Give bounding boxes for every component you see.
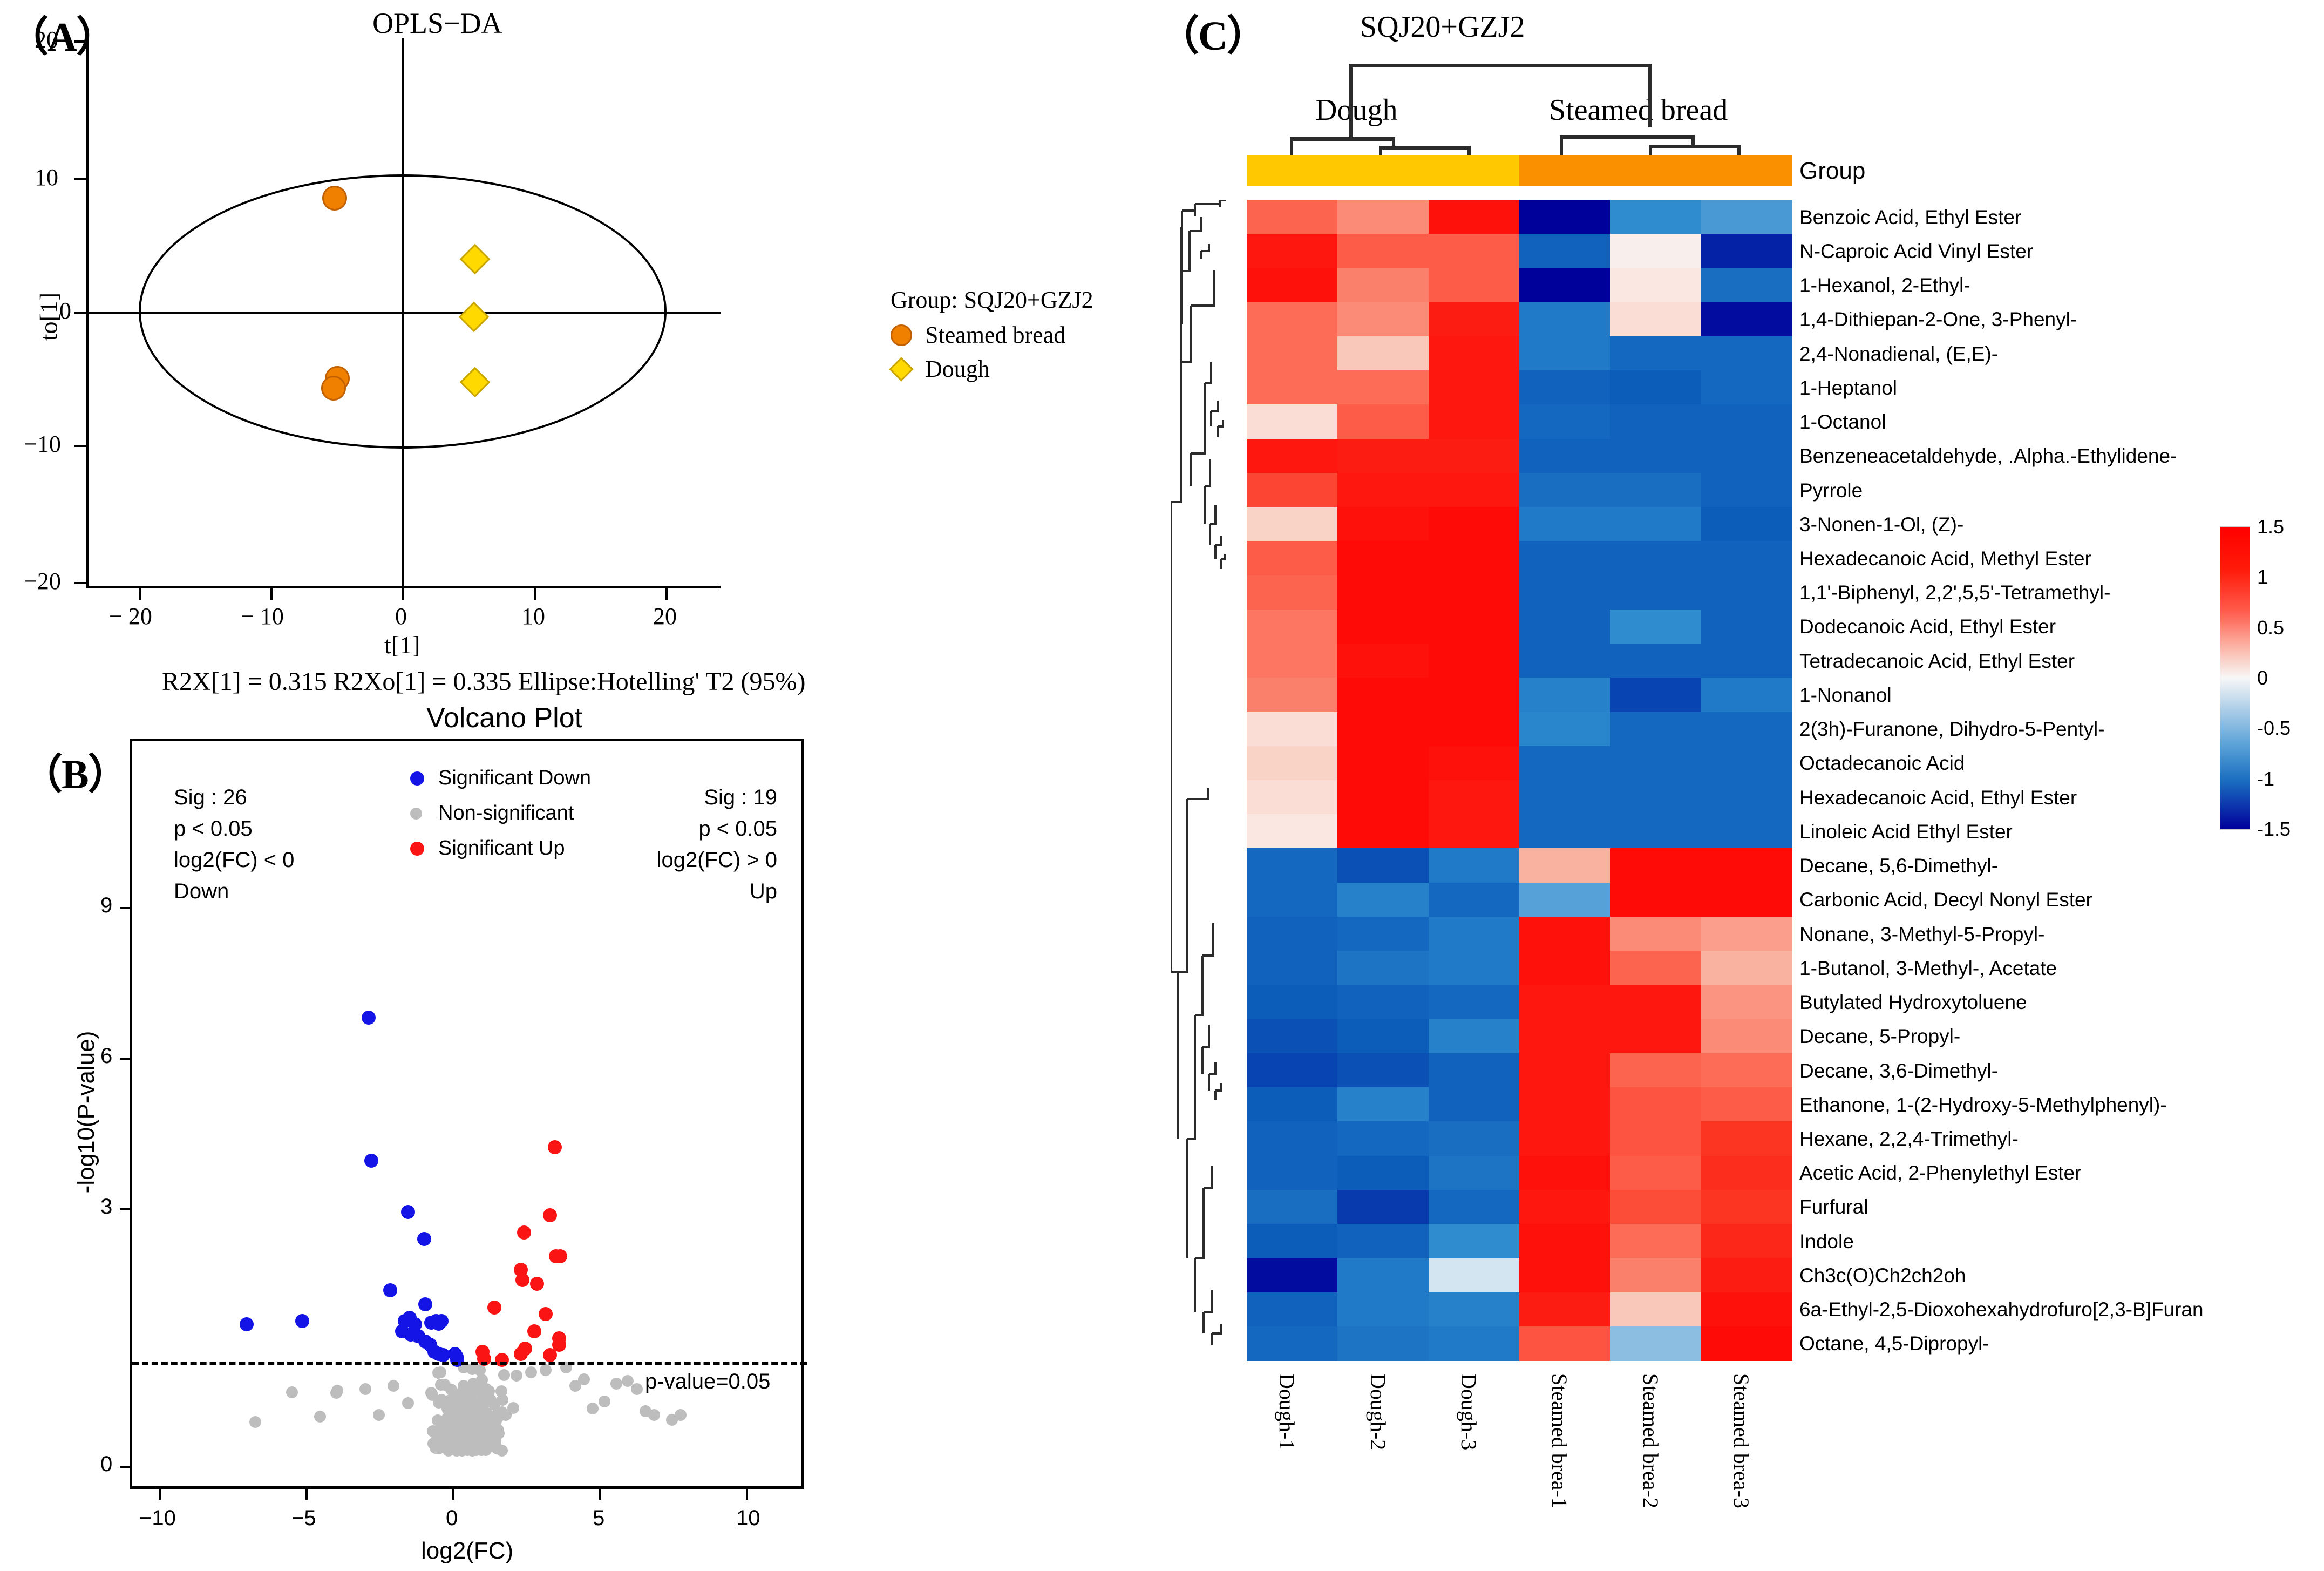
heatmap-cell (1610, 507, 1701, 541)
colorbar-tick-label: 1.5 (2257, 516, 2284, 538)
heatmap-cell (1429, 1156, 1520, 1190)
heatmap-cell (1247, 1292, 1338, 1327)
panel-b-x-axis-title: log2(FC) (421, 1538, 513, 1565)
panel-a-xtick-label: − 20 (109, 602, 152, 630)
volcano-point-non-significant (467, 1420, 479, 1432)
heatmap-row-label: Acetic Acid, 2-Phenylethyl Ester (1799, 1163, 2081, 1183)
heatmap-cell (1337, 439, 1429, 473)
panel-a-ytick-label: 10 (35, 164, 58, 191)
up-p-threshold: p < 0.05 (642, 813, 777, 844)
group-annotation-label: Group (1799, 158, 1865, 185)
volcano-point-significant-up (487, 1301, 501, 1315)
panel-b-title: Volcano Plot (426, 702, 582, 734)
panel-a-ytick-mark (74, 445, 86, 447)
volcano-point-non-significant (445, 1384, 457, 1396)
heatmap-cell (1337, 575, 1429, 610)
heatmap-cell (1701, 814, 1792, 849)
panel-b-ytick-label: 6 (100, 1044, 112, 1068)
heatmap-cell (1337, 780, 1429, 815)
panel-a-ytick-mark (74, 40, 86, 43)
heatmap-cell (1610, 439, 1701, 473)
heatmap-row-label: 1,1'-Biphenyl, 2,2',5,5'-Tetramethyl- (1799, 583, 2110, 602)
panel-b-xtick-mark (599, 1489, 601, 1500)
heatmap-cell (1247, 746, 1338, 781)
volcano-point-significant-up (548, 1140, 562, 1154)
colorbar-tick-label: 1 (2257, 566, 2268, 588)
down-p-threshold: p < 0.05 (174, 813, 294, 844)
panel-b-xtick-mark (746, 1489, 748, 1500)
heatmap-cell (1701, 1190, 1792, 1224)
heatmap-row-label: 1-Hexanol, 2-Ethyl- (1799, 275, 1970, 295)
heatmap-cell (1701, 336, 1792, 371)
heatmap-cell (1610, 678, 1701, 712)
volcano-point-significant-up (539, 1307, 553, 1321)
heatmap-row-label: Dodecanoic Acid, Ethyl Ester (1799, 617, 2056, 636)
heatmap-cell (1610, 985, 1701, 1019)
group-color-dough (1247, 155, 1519, 186)
heatmap-cell (1247, 541, 1338, 575)
heatmap-cell (1429, 268, 1520, 302)
up-fc-threshold: log2(FC) > 0 (642, 844, 777, 876)
volcano-point-non-significant (497, 1394, 508, 1406)
heatmap-grid (1247, 200, 1792, 1360)
volcano-point-non-significant (359, 1383, 371, 1395)
volcano-point-significant-up (514, 1347, 528, 1361)
heatmap-cell (1610, 268, 1701, 302)
heatmap-cell (1429, 1224, 1520, 1258)
heatmap-cell (1337, 336, 1429, 371)
panel-a-ytick-label: −20 (24, 567, 61, 595)
panel-b-legend: Significant Down Non-significant Signifi… (410, 767, 591, 860)
heatmap-cell (1247, 439, 1338, 473)
volcano-point-non-significant (286, 1386, 298, 1398)
panel-c-tag: （C） (1158, 2, 1267, 62)
volcano-point-non-significant (472, 1381, 484, 1393)
panel-b-ytick-label: 9 (100, 893, 112, 918)
up-direction-label: Up (642, 876, 777, 907)
panel-a-xtick-label: − 10 (241, 602, 284, 630)
volcano-point-non-significant (440, 1442, 452, 1454)
heatmap-cell (1247, 1190, 1338, 1224)
heatmap-cell (1519, 780, 1611, 815)
heatmap-cell (1247, 1121, 1338, 1156)
heatmap-cell (1701, 1121, 1792, 1156)
panel-a-xtick-mark (270, 588, 273, 600)
colorbar-tick-label: -0.5 (2257, 717, 2291, 740)
heatmap-cell (1429, 814, 1520, 849)
heatmap-cell (1610, 848, 1701, 883)
heatmap-cell (1701, 1326, 1792, 1361)
legend-label-significant-up: Significant Up (438, 837, 565, 860)
heatmap-cell (1519, 1156, 1611, 1190)
heatmap-cell (1337, 1326, 1429, 1361)
heatmap-cell (1429, 1053, 1520, 1088)
heatmap-cell (1337, 746, 1429, 781)
heatmap-cell (1429, 1190, 1520, 1224)
volcano-point-significant-up (553, 1249, 567, 1263)
panel-a-ytick-label: 20 (35, 26, 58, 53)
heatmap-cell (1519, 814, 1611, 849)
heatmap-cell (1519, 1019, 1611, 1054)
heatmap-cell (1701, 404, 1792, 439)
heatmap-cell (1519, 917, 1611, 951)
heatmap-cell (1429, 1121, 1520, 1156)
heatmap-cell (1610, 1224, 1701, 1258)
heatmap-cell (1247, 336, 1338, 371)
heatmap-row-label: Tetradecanoic Acid, Ethyl Ester (1799, 651, 2075, 671)
heatmap-cell (1701, 746, 1792, 781)
data-point-steamed-bread (321, 376, 346, 401)
colorbar-gradient (2220, 526, 2250, 830)
heatmap-cell (1701, 848, 1792, 883)
legend-label-dough: Dough (925, 355, 990, 383)
heatmap-cell (1429, 1292, 1520, 1327)
volcano-point-non-significant (498, 1369, 510, 1381)
heatmap-cell (1337, 234, 1429, 268)
panel-a-ytick-label: −10 (24, 430, 61, 458)
panel-b-xtick-label: 5 (593, 1506, 604, 1531)
heatmap-cell (1429, 610, 1520, 644)
heatmap-cell (1610, 1190, 1701, 1224)
heatmap-row-label: 1,4-Dithiepan-2-One, 3-Phenyl- (1799, 309, 2077, 329)
heatmap-cell (1519, 234, 1611, 268)
heatmap-cell (1610, 814, 1701, 849)
row-dendrogram-svg (1171, 200, 1247, 1360)
heatmap-cell (1247, 302, 1338, 337)
heatmap-row-label: 1-Octanol (1799, 412, 1886, 432)
panel-a-ytick-mark (74, 178, 86, 180)
heatmap-column-label: Dough-3 (1456, 1373, 1482, 1450)
panel-a-xtick-label: 20 (653, 602, 677, 630)
heatmap-cell (1337, 370, 1429, 405)
volcano-point-significant-down (417, 1232, 431, 1246)
heatmap-cell (1701, 200, 1792, 234)
panel-a-xtick-mark (139, 588, 141, 600)
volcano-point-non-significant (675, 1409, 687, 1421)
heatmap-cell (1429, 644, 1520, 678)
heatmap-cell (1337, 268, 1429, 302)
heatmap-cell (1247, 1156, 1338, 1190)
group-color-steamed-bread (1519, 155, 1792, 186)
volcano-point-non-significant (540, 1364, 552, 1376)
volcano-point-significant-up (517, 1225, 531, 1240)
heatmap-cell (1519, 1087, 1611, 1122)
heatmap-cell (1247, 848, 1338, 883)
heatmap-cell (1701, 575, 1792, 610)
heatmap-cell (1701, 712, 1792, 747)
legend-dot-non-significant (410, 808, 422, 820)
volcano-point-non-significant (648, 1409, 660, 1421)
heatmap-cell (1701, 1053, 1792, 1088)
heatmap-cell (1610, 610, 1701, 644)
heatmap-cell (1337, 951, 1429, 985)
heatmap-cell (1247, 712, 1338, 747)
colorbar-tick-label: 0.5 (2257, 617, 2284, 639)
colorbar-tick-label: -1.5 (2257, 818, 2291, 841)
heatmap-cell (1701, 610, 1792, 644)
heatmap-cell (1247, 985, 1338, 1019)
heatmap-cell (1337, 1053, 1429, 1088)
volcano-point-non-significant (599, 1396, 610, 1407)
volcano-point-non-significant (314, 1411, 326, 1423)
panel-b-ytick-mark (120, 1058, 130, 1060)
volcano-point-non-significant (474, 1364, 486, 1376)
heatmap-cell (1610, 1053, 1701, 1088)
panel-a-model-stats: R2X[1] = 0.315 R2Xo[1] = 0.335 Ellipse:H… (162, 667, 805, 696)
heatmap-row-label: Ethanone, 1-(2-Hydroxy-5-Methylphenyl)- (1799, 1095, 2167, 1115)
heatmap-row-label: Hexadecanoic Acid, Ethyl Ester (1799, 788, 2077, 808)
heatmap-cell (1519, 848, 1611, 883)
heatmap-cell (1610, 746, 1701, 781)
heatmap-row-label: Butylated Hydroxytoluene (1799, 992, 2027, 1012)
volcano-point-non-significant (452, 1409, 464, 1421)
heatmap-cell (1337, 404, 1429, 439)
panel-a-ytick-mark (74, 582, 86, 584)
heatmap-cell (1519, 575, 1611, 610)
heatmap-cell (1701, 1019, 1792, 1054)
down-sig-count: Sig : 26 (174, 782, 294, 813)
volcano-point-significant-down (401, 1205, 415, 1219)
heatmap-cell (1519, 268, 1611, 302)
volcano-point-significant-up (543, 1348, 557, 1362)
panel-a-legend: Group: SQJ20+GZJ2 Steamed bread Dough (891, 286, 1093, 383)
heatmap-cell (1610, 404, 1701, 439)
heatmap-row-label: Ch3c(O)Ch2ch2oh (1799, 1265, 1966, 1285)
heatmap-cell (1519, 746, 1611, 781)
heatmap-cell (1337, 610, 1429, 644)
heatmap-cell (1610, 1292, 1701, 1327)
panel-b-tag: （B） (22, 741, 128, 800)
heatmap-cell (1429, 234, 1520, 268)
heatmap-cell (1247, 1053, 1338, 1088)
heatmap-cell (1429, 575, 1520, 610)
heatmap-row-label: 1-Nonanol (1799, 685, 1892, 705)
panel-a-ytick-mark (74, 312, 86, 314)
heatmap-cell (1247, 1258, 1338, 1292)
heatmap-row-label: Hexadecanoic Acid, Methyl Ester (1799, 549, 2091, 568)
heatmap-cell (1429, 951, 1520, 985)
heatmap-cell (1701, 951, 1792, 985)
heatmap-cell (1701, 644, 1792, 678)
heatmap-cell (1610, 1156, 1701, 1190)
heatmap-cell (1337, 1190, 1429, 1224)
heatmap-cell (1247, 610, 1338, 644)
volcano-point-significant-up (530, 1277, 544, 1291)
heatmap-cell (1519, 336, 1611, 371)
heatmap-cell (1337, 917, 1429, 951)
heatmap-cell (1429, 507, 1520, 541)
heatmap-cell (1429, 370, 1520, 405)
heatmap-cell (1610, 370, 1701, 405)
heatmap-cell (1429, 1087, 1520, 1122)
volcano-point-non-significant (578, 1373, 590, 1385)
heatmap-cell (1610, 1087, 1701, 1122)
heatmap-row-label: 1-Heptanol (1799, 378, 1897, 398)
heatmap-row-label: Hexane, 2,2,4-Trimethyl- (1799, 1129, 2019, 1149)
heatmap-cell (1337, 883, 1429, 917)
heatmap-cell (1429, 985, 1520, 1019)
heatmap-cell (1701, 370, 1792, 405)
heatmap-cell (1337, 1258, 1429, 1292)
row-dendrogram (1171, 200, 1247, 1360)
heatmap-cell (1429, 439, 1520, 473)
panel-b-ytick-mark (120, 1208, 130, 1210)
legend-label-significant-down: Significant Down (438, 767, 591, 790)
colorbar-tick-label: -1 (2257, 768, 2274, 790)
heatmap-cell (1337, 200, 1429, 234)
heatmap-cell (1429, 200, 1520, 234)
volcano-point-non-significant (402, 1397, 414, 1409)
heatmap-row-labels: Benzoic Acid, Ethyl EsterN-Caproic Acid … (1799, 200, 2210, 1360)
heatmap-cell (1701, 1224, 1792, 1258)
heatmap-cell (1519, 1121, 1611, 1156)
panel-a-xtick-label: 0 (395, 602, 407, 630)
heatmap-cell (1247, 507, 1338, 541)
heatmap-cell (1519, 678, 1611, 712)
volcano-point-significant-up (495, 1353, 509, 1367)
heatmap-cell (1519, 1053, 1611, 1088)
volcano-point-non-significant (473, 1401, 485, 1413)
panel-a-xtick-label: 10 (521, 602, 545, 630)
legend-dot-significant-up (410, 842, 424, 856)
colorbar-ticks: 1.510.50-0.5-1-1.5 (2257, 526, 2322, 829)
panel-a-scatter: 20 10 0 −10 −20 − 20 − 10 0 10 20 (86, 38, 721, 588)
heatmap-cell (1247, 644, 1338, 678)
heatmap-cell (1701, 883, 1792, 917)
heatmap-cell (1701, 473, 1792, 507)
heatmap-cell (1247, 473, 1338, 507)
heatmap-cell (1610, 883, 1701, 917)
heatmap-cell (1337, 1156, 1429, 1190)
heatmap-cell (1429, 1326, 1520, 1361)
heatmap-cell (1519, 200, 1611, 234)
group-annotation-bar (1247, 155, 1792, 186)
heatmap-cell (1519, 712, 1611, 747)
volcano-point-significant-down (383, 1283, 397, 1297)
volcano-point-significant-up (543, 1208, 557, 1222)
heatmap-cell (1519, 1292, 1611, 1327)
heatmap-cell (1247, 234, 1338, 268)
legend-marker-dough (891, 358, 912, 380)
heatmap-cell (1247, 268, 1338, 302)
heatmap-row-label: Pyrrole (1799, 480, 1863, 500)
heatmap-cell (1610, 780, 1701, 815)
heatmap-cell (1610, 200, 1701, 234)
heatmap-cell (1429, 336, 1520, 371)
heatmap-row-label: Octane, 4,5-Dipropyl- (1799, 1333, 1989, 1353)
heatmap-cell (1701, 234, 1792, 268)
heatmap-cell (1337, 848, 1429, 883)
heatmap-cell (1337, 507, 1429, 541)
heatmap-cell (1247, 883, 1338, 917)
heatmap-cell (1519, 883, 1611, 917)
heatmap-column-labels: Dough-1Dough-2Dough-3Steamed brea-1Steam… (1247, 1366, 1792, 1571)
heatmap-cell (1610, 712, 1701, 747)
volcano-point-non-significant (425, 1387, 437, 1399)
heatmap-cell (1429, 848, 1520, 883)
heatmap-cell (1701, 1292, 1792, 1327)
heatmap-cell (1429, 302, 1520, 337)
panel-b-ytick-mark (120, 1466, 130, 1468)
panel-b-xtick-label: 10 (736, 1506, 760, 1531)
legend-marker-steamed-bread (891, 324, 912, 346)
heatmap-cell (1701, 917, 1792, 951)
heatmap-cell (1519, 473, 1611, 507)
heatmap-cell (1247, 1019, 1338, 1054)
heatmap-cell (1701, 302, 1792, 337)
heatmap-row-label: 6a-Ethyl-2,5-Dioxohexahydrofuro[2,3-B]Fu… (1799, 1299, 2204, 1319)
heatmap-cell (1701, 439, 1792, 473)
volcano-point-non-significant (388, 1380, 399, 1392)
heatmap-column-label: Steamed brea-2 (1638, 1373, 1663, 1508)
heatmap-cell (1429, 678, 1520, 712)
heatmap-cell (1247, 1087, 1338, 1122)
heatmap-row-label: Linoleic Acid Ethyl Ester (1799, 822, 2013, 842)
heatmap-cell (1247, 404, 1338, 439)
heatmap-cell (1519, 1190, 1611, 1224)
heatmap-cell (1701, 1156, 1792, 1190)
heatmap-cell (1247, 370, 1338, 405)
volcano-point-non-significant (511, 1370, 522, 1382)
heatmap-cell (1429, 712, 1520, 747)
heatmap-row-label: Decane, 5,6-Dimethyl- (1799, 856, 1998, 876)
panel-a-xtick-mark (665, 588, 668, 600)
volcano-point-non-significant (478, 1413, 490, 1425)
heatmap-row-label: Furfural (1799, 1197, 1868, 1217)
heatmap-cell (1519, 1258, 1611, 1292)
heatmap-cell (1610, 336, 1701, 371)
heatmap-column-label: Dough-2 (1365, 1373, 1391, 1450)
volcano-point-non-significant (464, 1432, 475, 1444)
heatmap-cell (1247, 575, 1338, 610)
heatmap-cell (1429, 541, 1520, 575)
panel-a-x-axis-title: t[1] (384, 631, 420, 659)
heatmap-cell (1429, 917, 1520, 951)
heatmap-row-label: 2,4-Nonadienal, (E,E)- (1799, 344, 1998, 364)
heatmap-cell (1337, 1121, 1429, 1156)
heatmap-cell (1701, 1258, 1792, 1292)
legend-label-steamed-bread: Steamed bread (925, 321, 1065, 349)
heatmap-cell (1519, 370, 1611, 405)
legend-title: Group: SQJ20+GZJ2 (891, 286, 1093, 314)
panel-b-ytick-label: 0 (100, 1452, 112, 1477)
heatmap-cell (1337, 644, 1429, 678)
panel-b-down-annotation: Sig : 26 p < 0.05 log2(FC) < 0 Down (174, 782, 294, 907)
panel-b-xtick-mark (305, 1489, 308, 1500)
heatmap-cell (1247, 1326, 1338, 1361)
volcano-point-non-significant (427, 1425, 439, 1437)
heatmap-cell (1337, 1292, 1429, 1327)
heatmap-cell (1701, 985, 1792, 1019)
heatmap-cell (1519, 951, 1611, 985)
heatmap-cell (1701, 678, 1792, 712)
heatmap-cell (1429, 473, 1520, 507)
panel-b-y-axis-title: -log10(P-value) (73, 1010, 100, 1215)
data-point-steamed-bread (322, 186, 347, 211)
heatmap-row-label: Decane, 5-Propyl- (1799, 1026, 1960, 1046)
heatmap-row-label: Nonane, 3-Methyl-5-Propyl- (1799, 924, 2044, 944)
heatmap-row-label: Indole (1799, 1231, 1854, 1251)
heatmap-row-label: N-Caproic Acid Vinyl Ester (1799, 241, 2033, 261)
panel-b-xtick-mark (159, 1489, 161, 1500)
heatmap-cell (1610, 575, 1701, 610)
heatmap-cell (1519, 404, 1611, 439)
heatmap-cell (1519, 541, 1611, 575)
heatmap-column-label: Dough-1 (1274, 1373, 1300, 1450)
up-sig-count: Sig : 19 (642, 782, 777, 813)
volcano-point-significant-up (527, 1324, 541, 1338)
legend-dot-significant-down (410, 771, 424, 785)
